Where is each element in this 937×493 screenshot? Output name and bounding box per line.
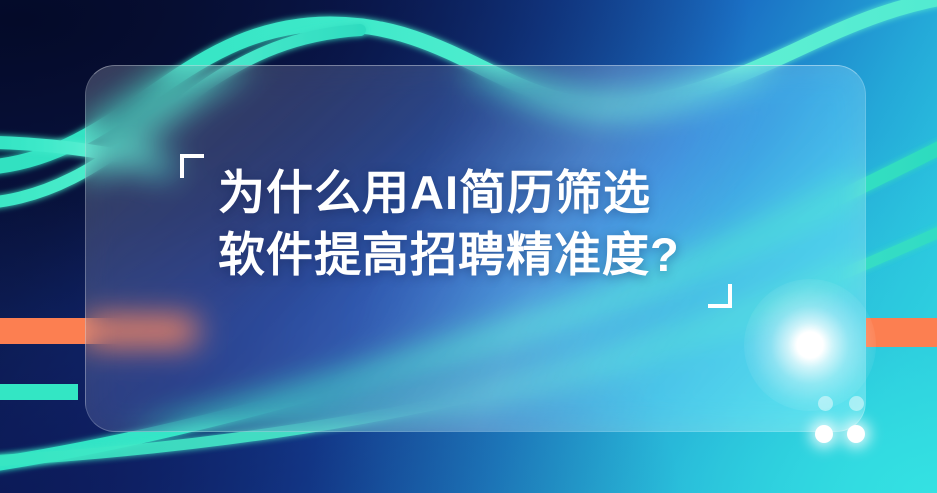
dot-grid-dot-2 <box>849 396 864 411</box>
headline-line-2: 软件提高招聘精准度? <box>218 224 738 286</box>
promo-banner: 为什么用AI简历筛选 软件提高招聘精准度? <box>0 0 937 493</box>
teal-bar-left <box>0 384 78 400</box>
open-quote-bracket-icon <box>180 154 204 178</box>
orange-bar-right <box>866 318 937 347</box>
close-quote-bracket-icon <box>708 284 732 308</box>
dot-grid-dot-4 <box>847 425 865 443</box>
dot-grid-dot-3 <box>815 425 833 443</box>
headline-text: 为什么用AI简历筛选 软件提高招聘精准度? <box>218 162 738 286</box>
headline-block: 为什么用AI简历筛选 软件提高招聘精准度? <box>178 148 738 318</box>
headline-line-1: 为什么用AI简历筛选 <box>218 162 738 224</box>
glow-orb <box>744 279 876 411</box>
dot-grid-dot-1 <box>818 396 833 411</box>
